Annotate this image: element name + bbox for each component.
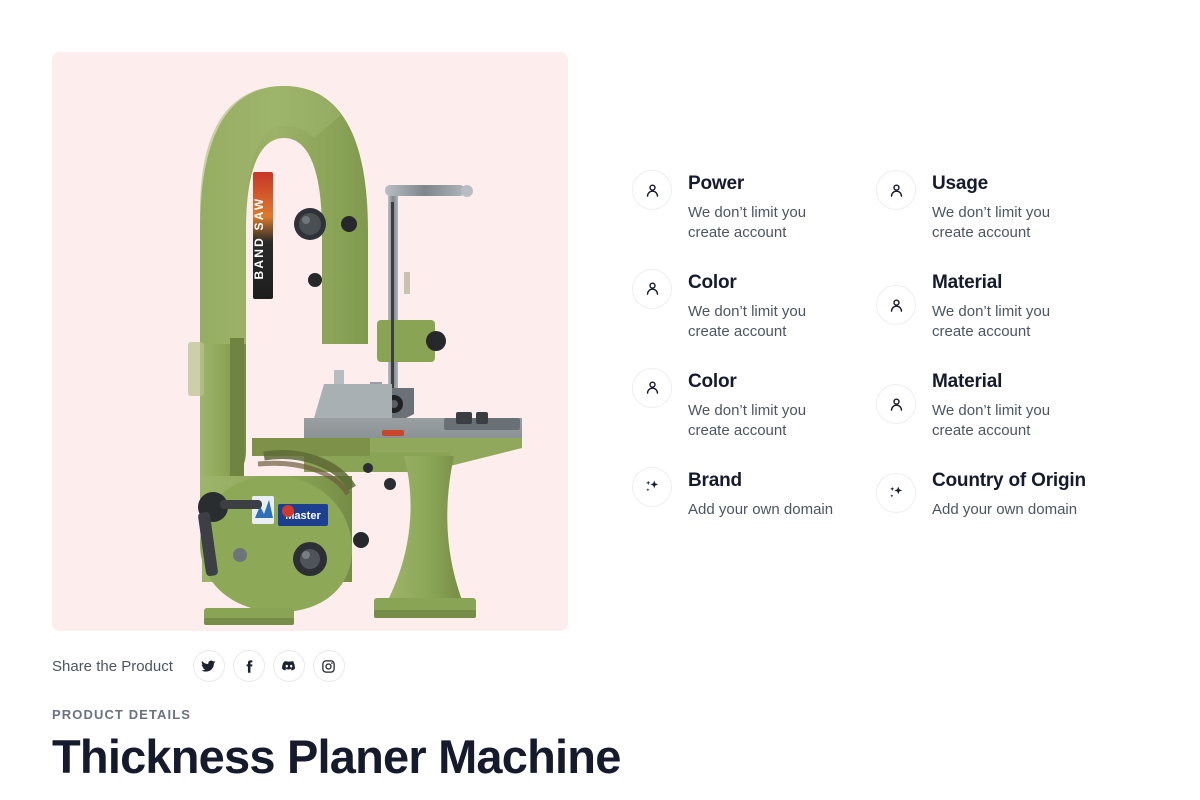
band-saw-illustration: BAND SAW <box>52 52 568 631</box>
user-icon <box>632 269 672 309</box>
feature-body: Brand Add your own domain <box>688 467 833 520</box>
title-block: PRODUCT DETAILS Thickness Planer Machine <box>52 707 568 783</box>
twitter-icon <box>201 659 216 674</box>
feature-item-country-of-origin: Country of Origin Add your own domain <box>876 467 1100 520</box>
page-title: Thickness Planer Machine <box>52 732 568 783</box>
share-link-facebook[interactable] <box>233 650 265 682</box>
product-eyebrow: PRODUCT DETAILS <box>52 707 568 722</box>
share-link-instagram[interactable] <box>313 650 345 682</box>
feature-title: Material <box>932 369 1092 396</box>
user-icon <box>876 170 916 210</box>
facebook-icon <box>241 659 256 674</box>
share-row: Share the Product <box>52 649 568 683</box>
feature-desc: We don’t limit you create account <box>688 203 848 243</box>
feature-title: Usage <box>932 171 1092 198</box>
feature-body: Country of Origin Add your own domain <box>932 467 1086 520</box>
user-icon <box>876 384 916 424</box>
sparkle-icon <box>632 467 672 507</box>
feature-desc: We don’t limit you create account <box>932 203 1092 243</box>
user-icon <box>632 368 672 408</box>
feature-item-color-2: Color We don’t limit you create account <box>632 368 856 441</box>
feature-item-power: Power We don’t limit you create account <box>632 170 856 243</box>
feature-desc: We don’t limit you create account <box>688 302 848 342</box>
feature-desc: Add your own domain <box>932 500 1086 520</box>
feature-title: Power <box>688 171 848 198</box>
share-link-twitter[interactable] <box>193 650 225 682</box>
feature-body: Usage We don’t limit you create account <box>932 170 1092 243</box>
feature-title: Material <box>932 270 1092 297</box>
feature-desc: We don’t limit you create account <box>932 302 1092 342</box>
product-details-page: BAND SAW <box>0 0 1200 800</box>
feature-item-color-1: Color We don’t limit you create account <box>632 269 856 342</box>
feature-desc: We don’t limit you create account <box>932 401 1092 441</box>
feature-body: Material We don’t limit you create accou… <box>932 269 1092 342</box>
feature-title: Color <box>688 369 848 396</box>
feature-body: Power We don’t limit you create account <box>688 170 848 243</box>
feature-title: Country of Origin <box>932 468 1086 495</box>
product-image-panel: BAND SAW <box>52 52 568 631</box>
feature-desc: Add your own domain <box>688 500 833 520</box>
discord-icon <box>281 658 297 674</box>
feature-item-usage: Usage We don’t limit you create account <box>876 170 1100 243</box>
feature-body: Color We don’t limit you create account <box>688 368 848 441</box>
feature-title: Color <box>688 270 848 297</box>
feature-desc: We don’t limit you create account <box>688 401 848 441</box>
share-label: Share the Product <box>52 658 173 675</box>
svg-text:BAND SAW: BAND SAW <box>252 197 266 280</box>
feature-title: Brand <box>688 468 833 495</box>
user-icon <box>876 285 916 325</box>
user-icon <box>632 170 672 210</box>
feature-item-material-2: Material We don’t limit you create accou… <box>876 368 1100 441</box>
feature-body: Color We don’t limit you create account <box>688 269 848 342</box>
instagram-icon <box>321 659 336 674</box>
sparkle-icon <box>876 473 916 513</box>
product-feature-grid: Power We don’t limit you create account … <box>632 170 1100 519</box>
feature-body: Material We don’t limit you create accou… <box>932 368 1092 441</box>
product-left-column: BAND SAW <box>52 52 568 783</box>
share-link-discord[interactable] <box>273 650 305 682</box>
feature-item-material-1: Material We don’t limit you create accou… <box>876 269 1100 342</box>
feature-item-brand: Brand Add your own domain <box>632 467 856 520</box>
